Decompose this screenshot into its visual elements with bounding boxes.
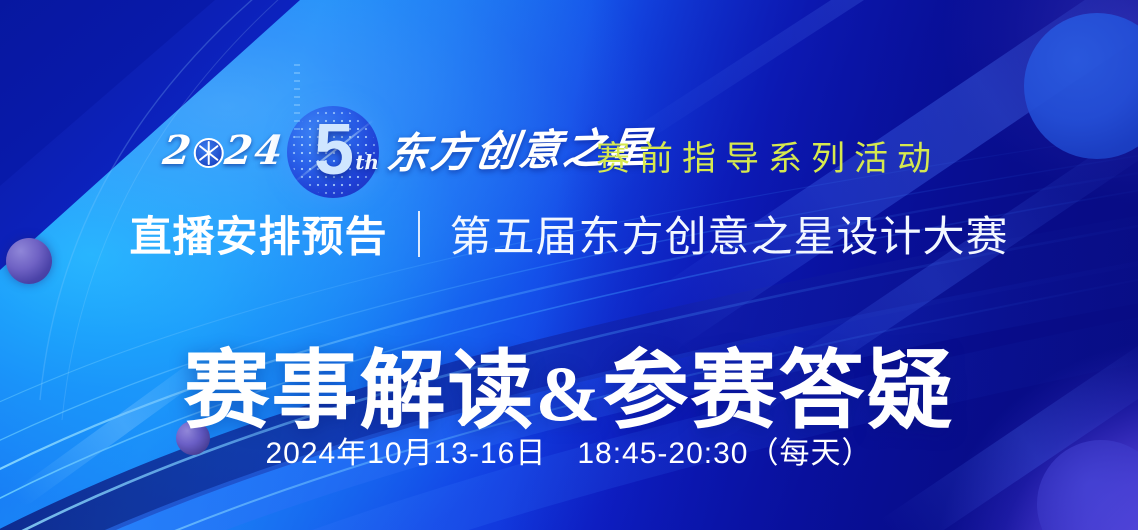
fifth-edition-logo: 5 th — [287, 106, 379, 198]
subtitle-divider — [418, 211, 420, 257]
schedule-text: 2024年10月13-16日 18:45-20:30（每天） — [0, 428, 1138, 472]
series-label: 赛前指导系列活动 — [596, 131, 940, 180]
logo-row: 224 5 th 东方创意之星 赛前指导系列活动 — [0, 55, 1138, 147]
decorative-dot-column — [294, 64, 300, 138]
event-banner: 224 5 th 东方创意之星 赛前指导系列活动 直播安排预告 第五届东方创意之… — [0, 0, 1138, 530]
year-digits-24: 24 — [222, 127, 287, 174]
title-part-1: 赛事解读 — [184, 343, 536, 439]
subtitle-strong: 直播安排预告 — [129, 203, 387, 264]
globe-icon — [194, 138, 224, 168]
subtitle-light: 第五届东方创意之星设计大赛 — [450, 203, 1009, 264]
year-digit-2: 2 — [161, 127, 196, 174]
title-part-2: 参赛答疑 — [602, 343, 954, 439]
subtitle-row: 直播安排预告 第五届东方创意之星设计大赛 — [0, 203, 1138, 264]
edition-suffix: th — [355, 150, 379, 174]
page-title: 赛事解读&参赛答疑 — [0, 320, 1138, 445]
year-logo: 224 — [161, 127, 287, 174]
title-ampersand: & — [536, 350, 603, 437]
